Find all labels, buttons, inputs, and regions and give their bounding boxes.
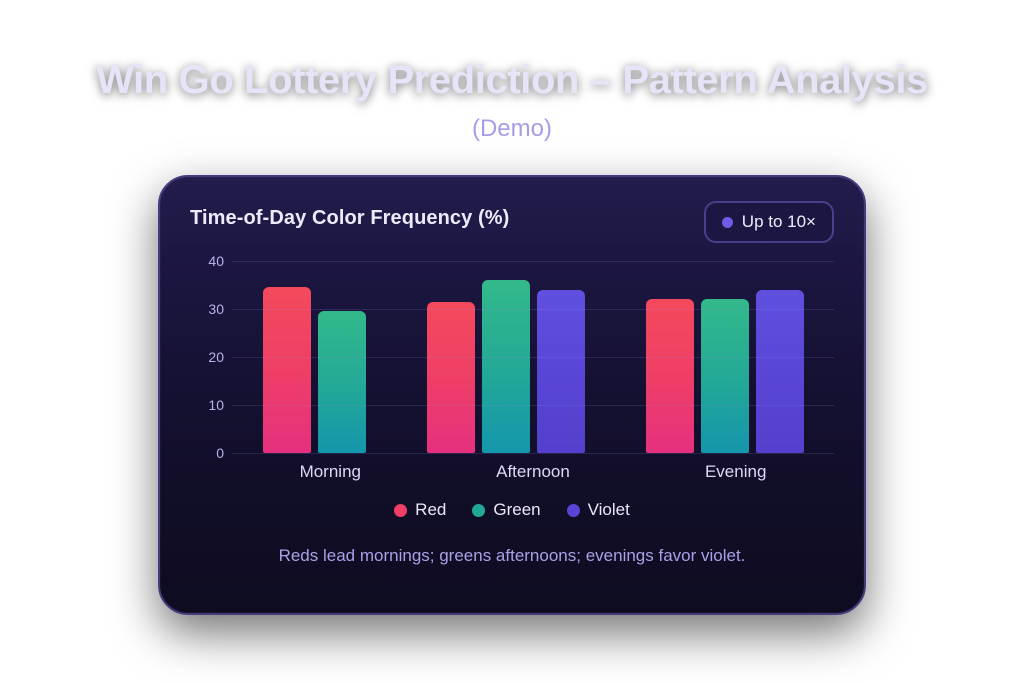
bar-evening-violet[interactable]	[756, 290, 804, 453]
grid-line	[232, 405, 834, 406]
bar-evening-red[interactable]	[646, 299, 694, 453]
x-axis-label-afternoon: Afternoon	[496, 462, 570, 482]
bar-evening-green[interactable]	[701, 299, 749, 453]
legend-label: Violet	[588, 500, 630, 520]
y-axis-tick: 20	[190, 349, 224, 365]
y-axis-tick: 40	[190, 253, 224, 269]
bar-morning-green[interactable]	[318, 311, 366, 453]
multiplier-badge-label: Up to 10×	[742, 212, 816, 232]
page-title: Win Go Lottery Prediction – Pattern Anal…	[0, 58, 1024, 103]
x-axis-label-evening: Evening	[705, 462, 766, 482]
chart-caption: Reds lead mornings; greens afternoons; e…	[190, 546, 834, 566]
card-container: Time-of-Day Color Frequency (%) Up to 10…	[0, 175, 1024, 615]
y-axis-tick: 30	[190, 301, 224, 317]
bar-chart-plot: 403020100	[190, 261, 834, 453]
grid-line	[232, 309, 834, 310]
bar-afternoon-red[interactable]	[427, 302, 475, 453]
x-axis-labels: MorningAfternoonEvening	[190, 462, 834, 482]
y-axis-tick: 0	[190, 445, 224, 461]
bar-afternoon-green[interactable]	[482, 280, 530, 453]
chart-title: Time-of-Day Color Frequency (%)	[190, 203, 509, 230]
legend-item-green[interactable]: Green	[472, 500, 540, 520]
chart-legend: RedGreenViolet	[190, 500, 834, 520]
y-axis-tick: 10	[190, 397, 224, 413]
grid-line	[232, 357, 834, 358]
card-header: Time-of-Day Color Frequency (%) Up to 10…	[190, 203, 834, 243]
bar-afternoon-violet[interactable]	[537, 290, 585, 453]
red-dot-icon	[394, 504, 407, 517]
legend-item-red[interactable]: Red	[394, 500, 446, 520]
multiplier-badge[interactable]: Up to 10×	[704, 201, 834, 243]
violet-dot-icon	[567, 504, 580, 517]
bar-morning-red[interactable]	[263, 287, 311, 453]
legend-label: Green	[493, 500, 540, 520]
legend-item-violet[interactable]: Violet	[567, 500, 630, 520]
purple-dot-icon	[722, 217, 733, 228]
chart-card: Time-of-Day Color Frequency (%) Up to 10…	[158, 175, 866, 615]
page-header: Win Go Lottery Prediction – Pattern Anal…	[0, 0, 1024, 143]
page-subtitle: (Demo)	[0, 115, 1024, 143]
x-axis-label-morning: Morning	[300, 462, 361, 482]
grid-line	[232, 261, 834, 262]
green-dot-icon	[472, 504, 485, 517]
grid-line	[232, 453, 834, 454]
legend-label: Red	[415, 500, 446, 520]
